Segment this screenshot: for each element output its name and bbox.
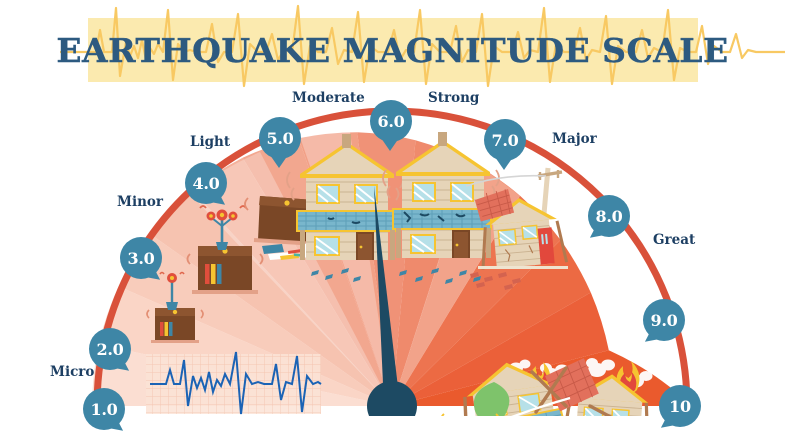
magnitude-value: 8.0 [596, 207, 623, 226]
category-label-light: Light [190, 134, 230, 150]
category-label-great: Great [653, 232, 695, 248]
magnitude-value: 5.0 [267, 129, 294, 148]
category-label-strong: Strong [428, 90, 479, 106]
magnitude-value: 1.0 [91, 400, 118, 419]
category-label-minor: Minor [117, 194, 163, 210]
magnitude-bubble-8[interactable]: 8.0 [588, 195, 630, 237]
magnitude-bubble-9[interactable]: 9.0 [643, 299, 685, 341]
magnitude-bubble-4[interactable]: 4.0 [185, 162, 227, 204]
title-banner: EARTHQUAKE MAGNITUDE SCALE [0, 18, 785, 82]
page-title: EARTHQUAKE MAGNITUDE SCALE [0, 18, 785, 82]
magnitude-value: 2.0 [97, 340, 124, 359]
magnitude-value: 7.0 [492, 131, 519, 150]
category-label-moderate: Moderate [292, 90, 365, 106]
bubble-tail [110, 417, 128, 435]
category-label-major: Major [552, 131, 597, 147]
magnitude-bubble-6[interactable]: 6.0 [370, 100, 412, 142]
seismograph-chart-illustration [146, 352, 321, 414]
bubble-tail [657, 414, 675, 432]
magnitude-value: 4.0 [193, 174, 220, 193]
category-label-micro: Micro [50, 364, 94, 380]
magnitude-value: 3.0 [128, 249, 155, 268]
magnitude-value: 6.0 [378, 112, 405, 131]
magnitude-value: 9.0 [651, 311, 678, 330]
infographic-root: EARTHQUAKE MAGNITUDE SCALE [0, 0, 785, 436]
bubble-tail [381, 138, 399, 151]
magnitude-bubble-1[interactable]: 1.0 [83, 388, 125, 430]
bubble-tail [270, 155, 288, 168]
magnitude-bubble-3[interactable]: 3.0 [120, 237, 162, 279]
magnitude-bubble-7[interactable]: 7.0 [484, 119, 526, 161]
magnitude-bubble-10[interactable]: 10 [659, 385, 701, 427]
magnitude-value: 10 [669, 397, 691, 416]
bubble-tail [495, 157, 513, 170]
magnitude-bubble-2[interactable]: 2.0 [89, 328, 131, 370]
magnitude-bubble-5[interactable]: 5.0 [259, 117, 301, 159]
